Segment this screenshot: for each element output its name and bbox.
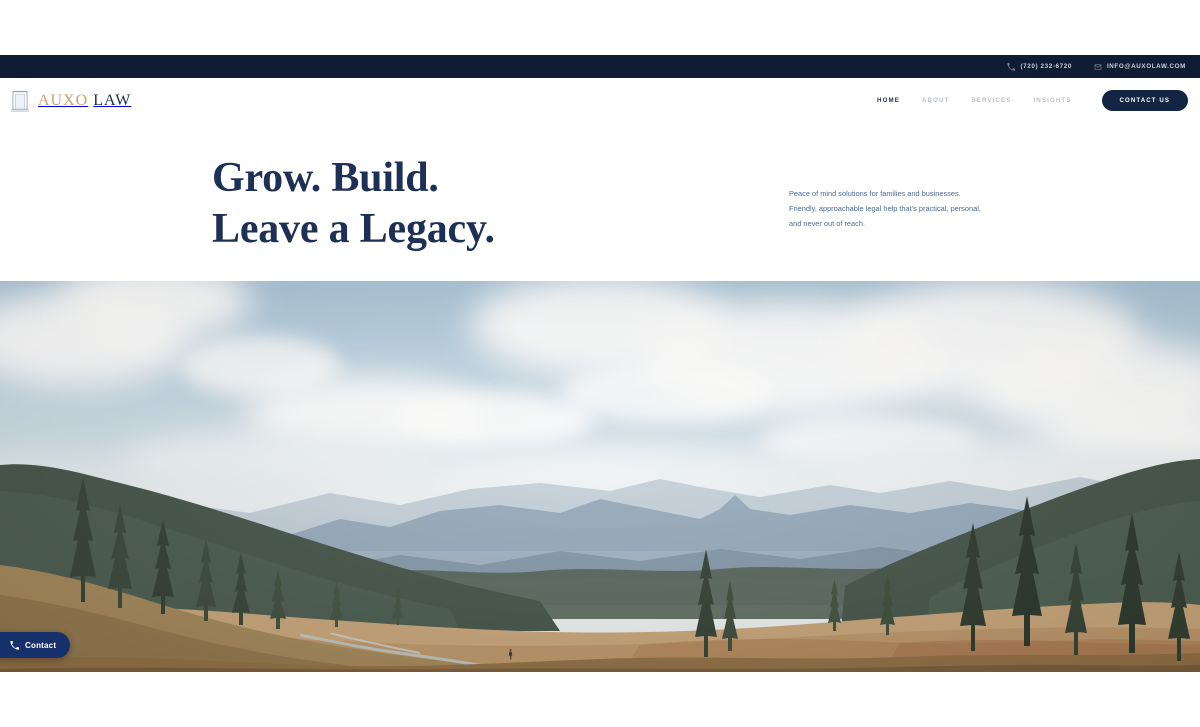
topbar-phone-link[interactable]: (720) 232-6720 <box>1007 63 1071 71</box>
contact-floating-button[interactable]: Contact <box>0 632 70 658</box>
doorway-logo-icon <box>8 88 32 114</box>
page-bottom-margin <box>0 672 1200 727</box>
primary-navigation: HOME ABOUT SERVICES INSIGHTS CONTACT US <box>877 90 1188 111</box>
nav-link-list: HOME ABOUT SERVICES INSIGHTS <box>877 97 1071 104</box>
brand-wordmark: AUXOLAW <box>38 92 131 110</box>
image-color-grade <box>0 281 1200 672</box>
hero-headline: Grow. Build. Leave a Legacy. <box>212 153 495 255</box>
brand-name-primary: AUXO <box>38 92 88 110</box>
topbar-email-text: INFO@AUXOLAW.COM <box>1107 63 1186 70</box>
nav-item-about[interactable]: ABOUT <box>922 97 950 104</box>
hero-copy-section: Grow. Build. Leave a Legacy. Peace of mi… <box>0 123 1200 281</box>
nav-item-insights[interactable]: INSIGHTS <box>1033 97 1071 104</box>
contact-us-button[interactable]: CONTACT US <box>1102 90 1189 111</box>
utility-bar: (720) 232-6720 INFO@AUXOLAW.COM <box>0 55 1200 78</box>
site-header: AUXOLAW HOME ABOUT SERVICES INSIGHTS CON… <box>0 78 1200 123</box>
hero-landscape-image <box>0 281 1200 672</box>
phone-icon <box>1007 63 1015 71</box>
contact-floating-label: Contact <box>25 641 56 650</box>
hero-subcopy: Peace of mind solutions for families and… <box>789 186 989 232</box>
hero-headline-line-2: Leave a Legacy. <box>212 204 495 255</box>
phone-icon <box>10 641 19 650</box>
hero-headline-line-1: Grow. Build. <box>212 153 495 204</box>
brand-name-secondary: LAW <box>93 92 131 110</box>
page-top-margin <box>0 0 1200 55</box>
mail-icon <box>1094 63 1102 71</box>
brand-logo[interactable]: AUXOLAW <box>8 88 131 114</box>
topbar-phone-text: (720) 232-6720 <box>1020 63 1071 70</box>
nav-item-services[interactable]: SERVICES <box>971 97 1011 104</box>
page-root: (720) 232-6720 INFO@AUXOLAW.COM <box>0 0 1200 727</box>
topbar-email-link[interactable]: INFO@AUXOLAW.COM <box>1094 63 1186 71</box>
nav-item-home[interactable]: HOME <box>877 97 900 104</box>
